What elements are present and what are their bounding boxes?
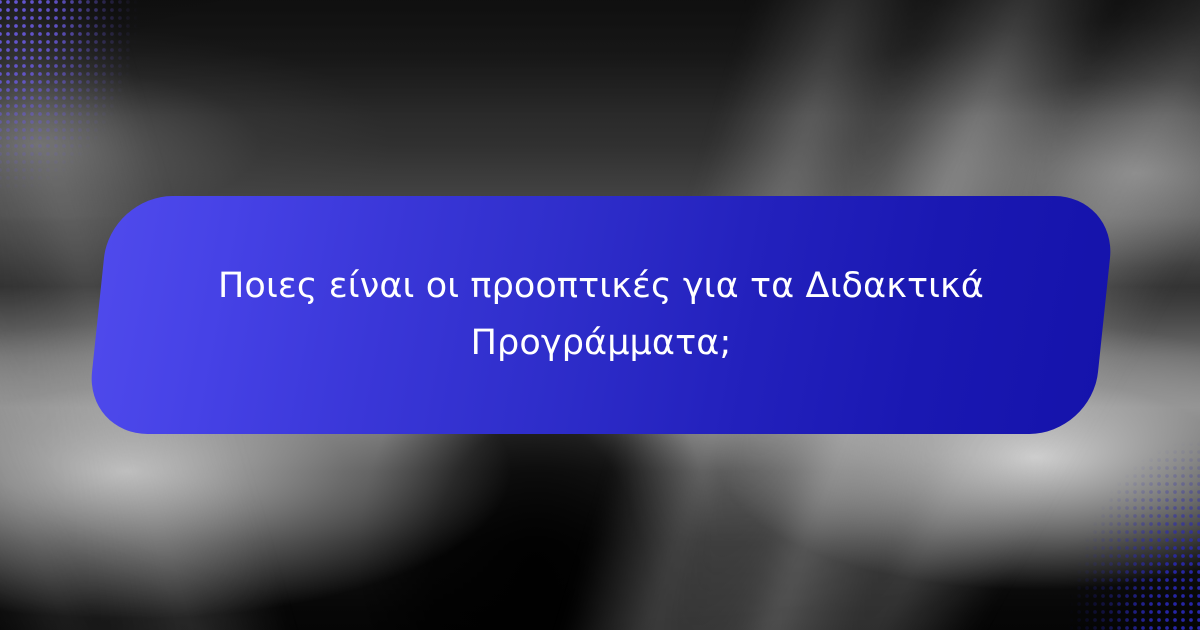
social-share-card: Ποιες είναι οι προοπτικές για τα Διδακτι… bbox=[0, 0, 1200, 630]
headline-banner: Ποιες είναι οι προοπτικές για τα Διδακτι… bbox=[98, 196, 1104, 434]
headline-text: Ποιες είναι οι προοπτικές για τα Διδακτι… bbox=[98, 196, 1104, 434]
